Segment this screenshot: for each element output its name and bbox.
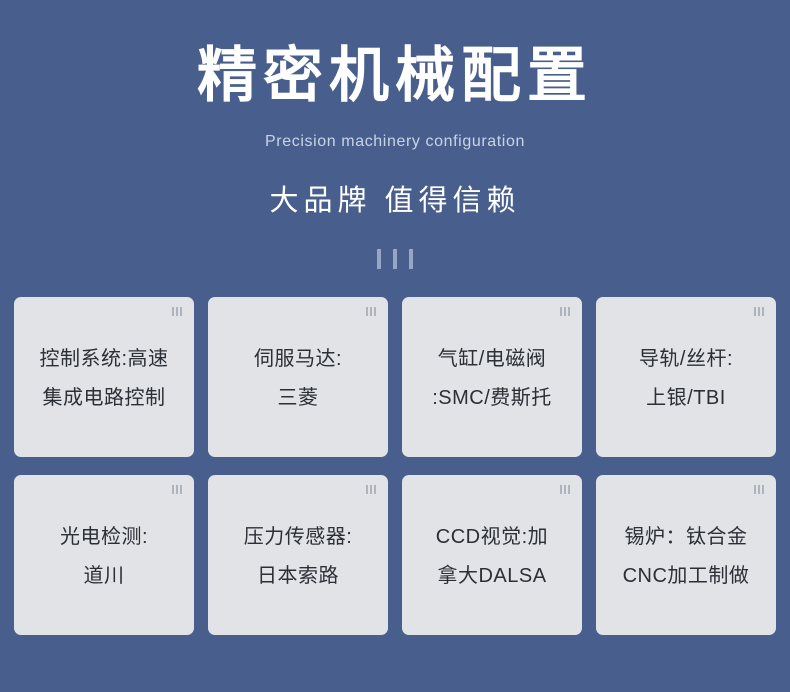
spec-card-line: 锡炉：钛合金 bbox=[625, 518, 748, 557]
spec-card-line: 导轨/丝杆: bbox=[639, 340, 733, 379]
spec-card-line: 三菱 bbox=[278, 379, 319, 418]
spec-card: 导轨/丝杆: 上银/TBI bbox=[596, 297, 776, 457]
corner-bars-icon bbox=[754, 485, 764, 494]
corner-bars-icon bbox=[754, 307, 764, 316]
corner-bars-icon bbox=[560, 485, 570, 494]
spec-card-line: :SMC/费斯托 bbox=[432, 379, 552, 418]
divider-bar-3 bbox=[409, 249, 413, 269]
spec-card-line: CNC加工制做 bbox=[623, 557, 750, 596]
spec-card-line: 光电检测: bbox=[60, 518, 148, 557]
spec-card-line: 拿大DALSA bbox=[437, 557, 546, 596]
spec-card-line: 控制系统:高速 bbox=[39, 340, 168, 379]
spec-card-line: 压力传感器: bbox=[244, 518, 353, 557]
divider-bar-1 bbox=[377, 249, 381, 269]
page-subtitle-en: Precision machinery configuration bbox=[0, 133, 790, 151]
poster-header: 精密机械配置 Precision machinery configuration… bbox=[0, 0, 790, 269]
corner-bars-icon bbox=[366, 307, 376, 316]
page-tagline: 大品牌 值得信赖 bbox=[0, 177, 790, 219]
corner-bars-icon bbox=[172, 307, 182, 316]
spec-card-line: 集成电路控制 bbox=[43, 379, 166, 418]
spec-card-line: 伺服马达: bbox=[254, 340, 342, 379]
divider-bar-2 bbox=[393, 249, 397, 269]
spec-card-line: 日本索路 bbox=[257, 557, 339, 596]
corner-bars-icon bbox=[172, 485, 182, 494]
corner-bars-icon bbox=[366, 485, 376, 494]
spec-card: 压力传感器: 日本索路 bbox=[208, 475, 388, 635]
divider-bars bbox=[377, 249, 413, 269]
spec-card-line: 气缸/电磁阀 bbox=[438, 340, 547, 379]
spec-card: CCD视觉:加 拿大DALSA bbox=[402, 475, 582, 635]
spec-card: 控制系统:高速 集成电路控制 bbox=[14, 297, 194, 457]
spec-card-line: CCD视觉:加 bbox=[436, 518, 548, 557]
spec-card: 锡炉：钛合金 CNC加工制做 bbox=[596, 475, 776, 635]
spec-card-grid: 控制系统:高速 集成电路控制 伺服马达: 三菱 气缸/电磁阀 :SMC/费斯托 … bbox=[0, 297, 790, 635]
corner-bars-icon bbox=[560, 307, 570, 316]
spec-card: 光电检测: 道川 bbox=[14, 475, 194, 635]
spec-card: 伺服马达: 三菱 bbox=[208, 297, 388, 457]
spec-card-line: 道川 bbox=[84, 557, 125, 596]
spec-card: 气缸/电磁阀 :SMC/费斯托 bbox=[402, 297, 582, 457]
poster-page: 精密机械配置 Precision machinery configuration… bbox=[0, 0, 790, 692]
spec-card-line: 上银/TBI bbox=[646, 379, 726, 418]
page-title: 精密机械配置 bbox=[0, 44, 790, 107]
